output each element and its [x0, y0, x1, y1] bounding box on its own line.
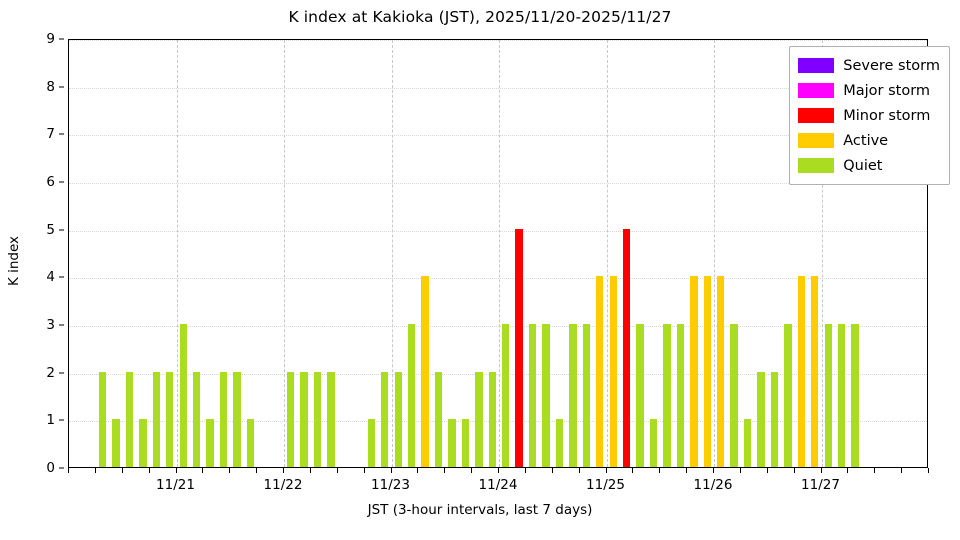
x-tick-mark: [444, 468, 445, 473]
y-tick-label: 0: [46, 460, 55, 476]
y-tick-label: 5: [46, 222, 55, 238]
bar: [193, 372, 200, 467]
y-tick-label: 8: [46, 79, 55, 95]
x-tick-mark: [901, 468, 902, 473]
x-tick-mark: [68, 468, 69, 473]
x-tick-mark: [310, 468, 311, 473]
bar: [663, 324, 670, 467]
y-tick-label: 2: [46, 365, 55, 381]
bar: [677, 324, 684, 467]
x-tick-mark: [95, 468, 96, 473]
x-tick-mark: [740, 468, 741, 473]
y-tick-mark: [59, 372, 64, 373]
bar: [112, 419, 119, 467]
x-tick-mark: [391, 468, 392, 473]
bar: [529, 324, 536, 467]
x-tick-mark: [256, 468, 257, 473]
bar: [153, 372, 160, 467]
bar: [569, 324, 576, 467]
bar: [435, 372, 442, 467]
legend-item-label: Active: [843, 133, 888, 149]
legend-swatch-icon: [798, 58, 834, 73]
x-tick-mark: [579, 468, 580, 473]
y-tick-mark: [59, 182, 64, 183]
gridline-day-11-25: [607, 40, 608, 467]
y-tick-mark: [59, 277, 64, 278]
bar: [838, 324, 845, 467]
y-tick-mark: [59, 39, 64, 40]
x-tick-label-11-22: 11/22: [264, 477, 303, 493]
y-tick-mark: [59, 325, 64, 326]
x-tick-label-11-27: 11/27: [801, 477, 840, 493]
x-tick-mark: [229, 468, 230, 473]
bar: [596, 276, 603, 467]
x-tick-mark: [498, 468, 499, 473]
gridline-day-11-23: [392, 40, 393, 467]
bar: [583, 324, 590, 467]
legend-item-label: Quiet: [843, 158, 882, 174]
gridline-horizontal: [69, 40, 927, 41]
bar: [717, 276, 724, 467]
legend-swatch-icon: [798, 133, 834, 148]
bar: [851, 324, 858, 467]
legend-item[interactable]: Active: [798, 128, 940, 153]
bar: [462, 419, 469, 467]
bar: [757, 372, 764, 467]
x-tick-label-11-24: 11/24: [479, 477, 518, 493]
y-tick-label: 1: [46, 412, 55, 428]
bar: [825, 324, 832, 467]
bar: [690, 276, 697, 467]
gridline-day-11-21: [177, 40, 178, 467]
legend-item[interactable]: Minor storm: [798, 103, 940, 128]
x-tick-mark: [874, 468, 875, 473]
x-tick-label-11-26: 11/26: [694, 477, 733, 493]
bar: [287, 372, 294, 467]
x-tick-mark: [122, 468, 123, 473]
bar: [730, 324, 737, 467]
bar: [247, 419, 254, 467]
bar: [206, 419, 213, 467]
bar: [811, 276, 818, 467]
x-tick-mark: [767, 468, 768, 473]
bar: [233, 372, 240, 467]
bar: [99, 372, 106, 467]
x-tick-mark: [632, 468, 633, 473]
bar: [556, 419, 563, 467]
legend-item[interactable]: Severe storm: [798, 53, 940, 78]
x-tick-mark: [686, 468, 687, 473]
x-tick-mark: [659, 468, 660, 473]
x-tick-mark: [417, 468, 418, 473]
bar: [744, 419, 751, 467]
x-tick-mark: [149, 468, 150, 473]
bar: [327, 372, 334, 467]
legend-item[interactable]: Quiet: [798, 153, 940, 178]
x-tick-label-11-25: 11/25: [586, 477, 625, 493]
bar: [126, 372, 133, 467]
bar: [300, 372, 307, 467]
bar: [139, 419, 146, 467]
x-tick-mark: [202, 468, 203, 473]
x-tick-mark: [283, 468, 284, 473]
bar: [623, 229, 630, 467]
legend-swatch-icon: [798, 83, 834, 98]
gridline-horizontal: [69, 231, 927, 232]
y-tick-mark: [59, 134, 64, 135]
y-tick-mark: [59, 86, 64, 87]
x-tick-mark: [928, 468, 929, 473]
x-tick-mark: [176, 468, 177, 473]
bar: [395, 372, 402, 467]
y-tick-label: 7: [46, 126, 55, 142]
y-tick-label: 6: [46, 174, 55, 190]
bar: [489, 372, 496, 467]
chart-figure: K index at Kakioka (JST), 2025/11/20-202…: [0, 0, 960, 540]
x-tick-label-11-21: 11/21: [156, 477, 195, 493]
y-tick-label: 4: [46, 269, 55, 285]
x-tick-mark: [364, 468, 365, 473]
x-tick-mark: [525, 468, 526, 473]
bar: [180, 324, 187, 467]
y-tick-label: 3: [46, 317, 55, 333]
bar: [636, 324, 643, 467]
x-tick-mark: [552, 468, 553, 473]
bar: [650, 419, 657, 467]
gridline-day-11-24: [499, 40, 500, 467]
gridline-day-11-22: [284, 40, 285, 467]
bar: [421, 276, 428, 467]
x-tick-mark: [794, 468, 795, 473]
bar: [448, 419, 455, 467]
legend-swatch-icon: [798, 108, 834, 123]
chart-legend: Severe stormMajor stormMinor stormActive…: [789, 46, 950, 185]
y-axis-title: K index: [6, 201, 22, 321]
y-tick-mark: [59, 468, 64, 469]
bar: [784, 324, 791, 467]
legend-swatch-icon: [798, 158, 834, 173]
bar: [166, 372, 173, 467]
gridline-day-11-26: [714, 40, 715, 467]
bar: [771, 372, 778, 467]
bar: [515, 229, 522, 467]
bar: [542, 324, 549, 467]
bar: [502, 324, 509, 467]
y-tick-mark: [59, 420, 64, 421]
x-tick-mark: [713, 468, 714, 473]
x-axis-title: JST (3-hour intervals, last 7 days): [0, 502, 960, 518]
bar: [798, 276, 805, 467]
x-tick-label-11-23: 11/23: [371, 477, 410, 493]
bar: [475, 372, 482, 467]
bar: [314, 372, 321, 467]
bar: [368, 419, 375, 467]
x-tick-mark: [847, 468, 848, 473]
x-tick-mark: [337, 468, 338, 473]
x-tick-mark: [471, 468, 472, 473]
bar: [610, 276, 617, 467]
bar: [220, 372, 227, 467]
legend-item-label: Major storm: [843, 83, 930, 99]
bar: [408, 324, 415, 467]
legend-item-label: Minor storm: [843, 108, 930, 124]
chart-title: K index at Kakioka (JST), 2025/11/20-202…: [0, 8, 960, 26]
bar: [381, 372, 388, 467]
bar: [704, 276, 711, 467]
y-tick-label: 9: [46, 31, 55, 47]
y-tick-mark: [59, 229, 64, 230]
x-tick-mark: [821, 468, 822, 473]
x-tick-mark: [606, 468, 607, 473]
legend-item-label: Severe storm: [843, 58, 940, 74]
legend-item[interactable]: Major storm: [798, 78, 940, 103]
